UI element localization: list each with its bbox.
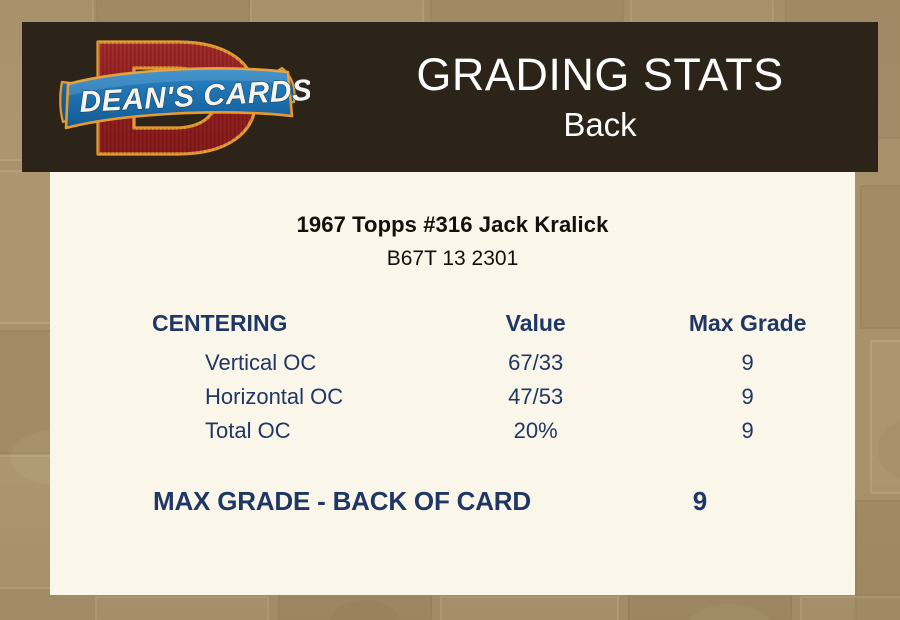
- background-card-motif: [860, 185, 900, 329]
- content-panel: 1967 Topps #316 Jack Kralick B67T 13 230…: [50, 172, 855, 595]
- row-max-grade: 9: [640, 380, 855, 414]
- table-row: Horizontal OC 47/53 9: [50, 380, 855, 414]
- background-card-motif: [800, 596, 900, 620]
- row-max-grade: 9: [640, 346, 855, 380]
- table-row: Vertical OC 67/33 9: [50, 346, 855, 380]
- header-bar: DEAN'S CARDS GRADING STATS Back: [22, 22, 878, 172]
- row-label: Total OC: [50, 414, 431, 448]
- grading-stats-table: CENTERING Value Max Grade Vertical OC 67…: [50, 306, 855, 448]
- column-header-centering: CENTERING: [50, 306, 431, 346]
- row-max-grade: 9: [640, 414, 855, 448]
- background-card-motif: [440, 596, 619, 620]
- max-grade-summary-value: 9: [600, 486, 855, 517]
- column-header-value: Value: [431, 306, 640, 346]
- background-card-motif: [95, 596, 269, 620]
- deans-cards-logo: DEAN'S CARDS: [50, 30, 310, 166]
- page-subtitle: Back: [563, 105, 636, 145]
- card-title: 1967 Topps #316 Jack Kralick: [50, 212, 855, 238]
- table-row: Total OC 20% 9: [50, 414, 855, 448]
- row-label: Horizontal OC: [50, 380, 431, 414]
- row-value: 20%: [431, 414, 640, 448]
- header-titles: GRADING STATS Back: [322, 22, 878, 172]
- row-value: 47/53: [431, 380, 640, 414]
- row-label: Vertical OC: [50, 346, 431, 380]
- page-title: GRADING STATS: [416, 49, 783, 101]
- card-serial: B67T 13 2301: [50, 247, 855, 271]
- row-value: 67/33: [431, 346, 640, 380]
- column-header-max-grade: Max Grade: [640, 306, 855, 346]
- max-grade-summary-row: MAX GRADE - BACK OF CARD 9: [50, 486, 855, 517]
- table-header-row: CENTERING Value Max Grade: [50, 306, 855, 346]
- max-grade-summary-label: MAX GRADE - BACK OF CARD: [50, 486, 600, 517]
